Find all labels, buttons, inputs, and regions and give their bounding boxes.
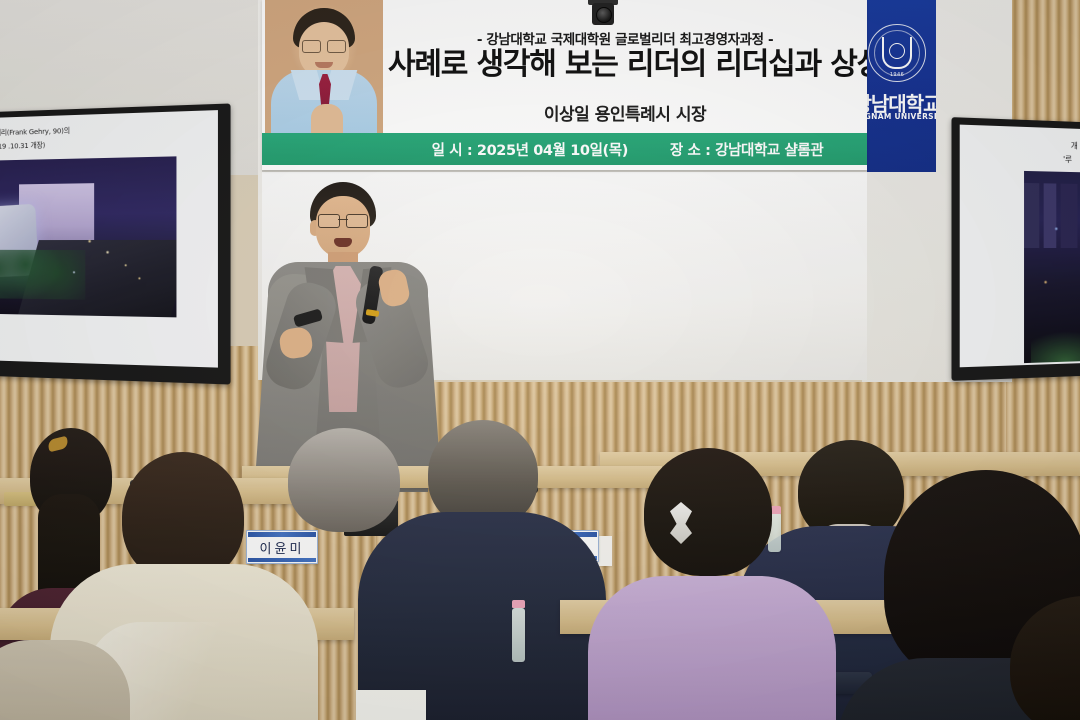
right-display-monitor: 개 '루 bbox=[952, 117, 1080, 381]
banner-green-bar-left bbox=[262, 133, 388, 165]
audience-head bbox=[644, 448, 772, 576]
seal-u-mark-icon bbox=[882, 37, 912, 69]
audience-body bbox=[588, 576, 836, 720]
left-monitor-screen: 축가 프랭크 게리(Frank Gehry, 90)의 ' (서울 청담동, 2… bbox=[0, 110, 218, 368]
event-banner: - 강남대학교 국제대학원 글로벌리더 최고경영자과정 - 사례로 생각해 보는… bbox=[262, 0, 867, 170]
left-slide-caption-line1: 축가 프랭크 게리(Frank Gehry, 90)의 bbox=[0, 125, 70, 139]
photo-canvas: 1946 강남대학교 KANGNAM UNIVERSITY - 강남대학교 국제… bbox=[0, 0, 1080, 720]
ceiling-camera-icon bbox=[586, 0, 620, 28]
water-bottle bbox=[512, 608, 525, 662]
university-seal-icon: 1946 bbox=[868, 24, 926, 82]
portrait-glasses-icon bbox=[302, 40, 346, 51]
camera-lens bbox=[596, 7, 612, 23]
audience-member bbox=[1010, 596, 1080, 720]
audience-member bbox=[368, 420, 588, 720]
slide-night-lights bbox=[0, 221, 176, 314]
banner-place: 장 소 : 강남대학교 샬롬관 bbox=[670, 139, 823, 160]
seal-year: 1946 bbox=[890, 72, 904, 78]
university-name-english: KANGNAM UNIVERSITY bbox=[858, 112, 936, 121]
audience-member bbox=[604, 448, 824, 720]
audience-head bbox=[122, 452, 244, 582]
left-slide-caption-line2: ' (서울 청담동, 2019 .10.31 개장) bbox=[0, 140, 45, 153]
speaker-glasses-bridge bbox=[338, 219, 348, 220]
left-slide-image bbox=[0, 156, 176, 317]
water-bottle-cap bbox=[512, 600, 525, 608]
banner-info-bar: 일 시 : 2025년 04월 10일(목) 장 소 : 강남대학교 샬롬관 bbox=[388, 133, 867, 165]
left-display-monitor: 축가 프랭크 게리(Frank Gehry, 90)의 ' (서울 청담동, 2… bbox=[0, 103, 231, 384]
banner-date: 일 시 : 2025년 04월 10일(목) bbox=[432, 139, 628, 160]
speaker-mouth bbox=[334, 238, 352, 247]
audience-member bbox=[0, 640, 110, 720]
paper-sheet bbox=[356, 690, 426, 720]
banner-program-line: - 강남대학교 국제대학원 글로벌리더 최고경영자과정 - bbox=[388, 28, 862, 48]
right-slide-caption-line1: 개 bbox=[1071, 140, 1078, 152]
right-slide-image bbox=[1024, 171, 1080, 363]
right-slide-caption-line2: '루 bbox=[1063, 154, 1072, 166]
banner-title: 사례로 생각해 보는 리더의 리더십과 상상력 bbox=[388, 48, 862, 81]
right-monitor-screen: 개 '루 bbox=[960, 125, 1080, 368]
slide-foliage bbox=[1031, 330, 1080, 363]
audience-head bbox=[1010, 596, 1080, 720]
kangnam-university-sign: 1946 강남대학교 KANGNAM UNIVERSITY bbox=[858, 0, 936, 172]
banner-speaker-line: 이상일 용인특례시 시장 bbox=[388, 100, 862, 125]
banner-portrait-photo bbox=[265, 0, 383, 146]
